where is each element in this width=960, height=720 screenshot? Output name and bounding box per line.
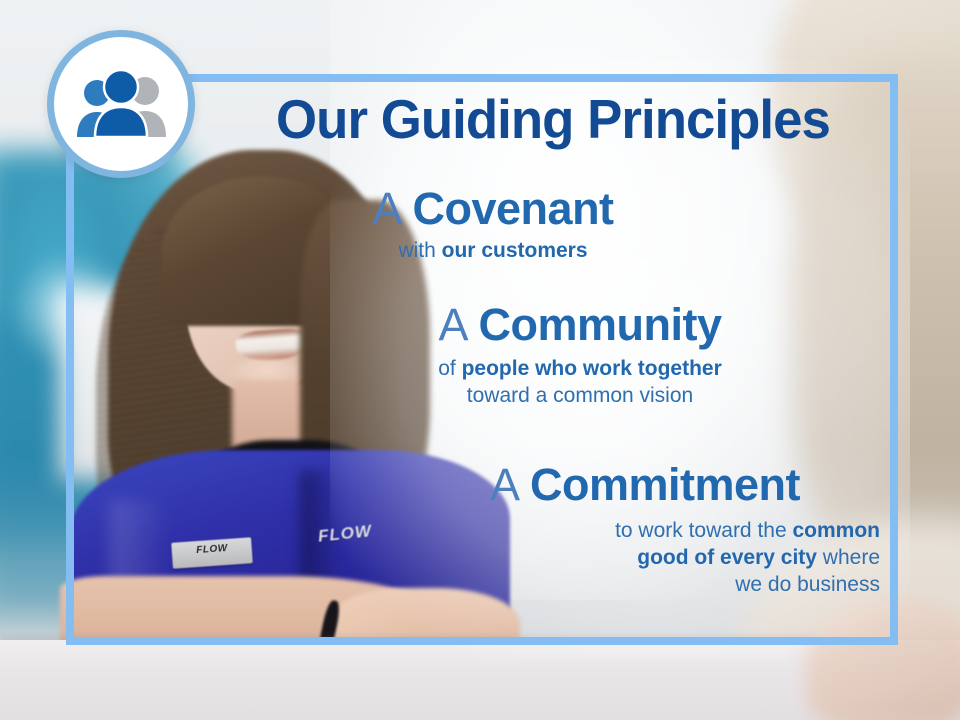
- principle-community-keyword: Community: [479, 299, 722, 350]
- principle-body-line: we do business: [410, 572, 880, 599]
- principle-covenant-body: with our customers: [283, 238, 703, 265]
- body-emphasis: good of every city: [637, 546, 817, 569]
- body-emphasis: our customers: [442, 239, 588, 262]
- principle-covenant-keyword: Covenant: [413, 183, 614, 234]
- body-text: where: [817, 546, 880, 569]
- body-emphasis: common: [792, 519, 880, 542]
- principle-body-line: toward a common vision: [330, 383, 830, 410]
- body-text: we do business: [735, 573, 880, 596]
- principle-body-line: good of every city where: [410, 545, 880, 572]
- principle-community-headline: A Community: [330, 302, 830, 348]
- principle-body-line: to work toward the common: [410, 518, 880, 545]
- principle-covenant: A Covenant with our customers: [283, 186, 703, 265]
- principle-community: A Community of people who work togethert…: [330, 302, 830, 410]
- body-text: with: [398, 239, 441, 262]
- background-person-hand: [805, 600, 960, 720]
- banner-image: FLOW FLOW Our Guiding Principles A: [0, 0, 960, 720]
- body-emphasis: people who work together: [462, 357, 722, 380]
- principle-body-line: of people who work together: [330, 356, 830, 383]
- principle-commitment-article: A: [490, 459, 518, 510]
- principle-commitment-body: to work toward the commongood of every c…: [410, 518, 880, 599]
- principle-community-article: A: [438, 299, 466, 350]
- principle-community-body: of people who work togethertoward a comm…: [330, 356, 830, 410]
- page-title: Our Guiding Principles: [227, 92, 880, 147]
- principle-body-line: with our customers: [283, 238, 703, 265]
- principle-covenant-article: A: [372, 183, 400, 234]
- principle-covenant-headline: A Covenant: [283, 186, 703, 232]
- body-text: to work toward the: [615, 519, 792, 542]
- body-text: toward a common vision: [467, 384, 693, 407]
- principle-commitment-keyword: Commitment: [530, 459, 800, 510]
- body-text: of: [438, 357, 461, 380]
- people-group-icon: [47, 30, 195, 178]
- principle-commitment: A Commitment to work toward the commongo…: [410, 462, 880, 599]
- principle-commitment-headline: A Commitment: [410, 462, 880, 508]
